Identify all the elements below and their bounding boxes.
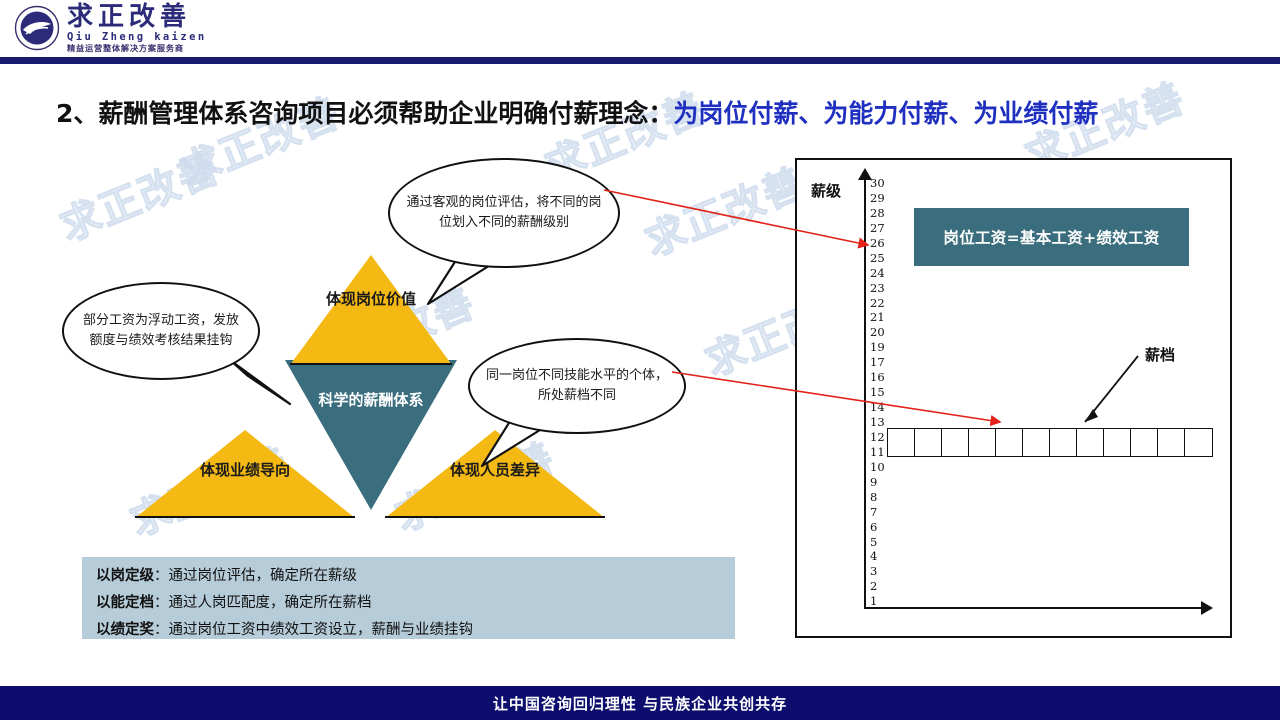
brand-tagline: 精益运营整体解决方案服务商 xyxy=(67,44,207,52)
y-axis-tick-label: 14 xyxy=(870,402,904,414)
triangle-performance-label: 体现业绩导向 xyxy=(135,462,355,480)
y-axis-tick-label: 8 xyxy=(870,492,904,504)
footer-text: 让中国咨询回归理性 与民族企业共创共存 xyxy=(493,693,787,714)
salary-band-cell xyxy=(1158,429,1185,456)
y-axis-tick-label: 2 xyxy=(870,581,904,593)
y-axis-tick-label: 19 xyxy=(870,342,904,354)
y-axis-tick-label: 6 xyxy=(870,522,904,534)
salary-band-cell xyxy=(1131,429,1158,456)
summary-row-label: 以能定档 xyxy=(96,595,154,611)
band-annotation-label: 薪档 xyxy=(1145,344,1175,365)
y-axis-tick-label: 29 xyxy=(870,193,904,205)
callout-variable-pay: 部分工资为浮动工资，发放额度与绩效考核结果挂钩 xyxy=(62,282,260,380)
salary-band-cell xyxy=(915,429,942,456)
slide-footer: 让中国咨询回归理性 与民族企业共创共存 xyxy=(0,686,1280,720)
y-axis-tick-label: 17 xyxy=(870,357,904,369)
summary-row-text: 通过岗位评估，确定所在薪级 xyxy=(169,568,358,584)
y-axis-tick-label: 7 xyxy=(870,507,904,519)
callout-job-evaluation: 通过客观的岗位评估，将不同的岗位划入不同的薪酬级别 xyxy=(388,158,620,268)
salary-band-cell xyxy=(1077,429,1104,456)
salary-band-cell xyxy=(888,429,915,456)
triangle-performance-base xyxy=(135,516,355,518)
y-axis-tick-label: 30 xyxy=(870,178,904,190)
callout-skill-band: 同一岗位不同技能水平的个体，所处薪档不同 xyxy=(468,338,686,434)
summary-row: 以岗定级：通过岗位评估，确定所在薪级 xyxy=(96,563,721,590)
y-axis-tick-label: 1 xyxy=(870,596,904,608)
y-axis-title: 薪级 xyxy=(811,180,841,201)
summary-box: 以岗定级：通过岗位评估，确定所在薪级 以能定档：通过人岗匹配度，确定所在薪档 以… xyxy=(82,557,735,639)
formula-banner: 岗位工资=基本工资+绩效工资 xyxy=(914,208,1189,266)
summary-row-sep: ： xyxy=(154,595,169,611)
triangle-people-diff-base xyxy=(385,516,605,518)
y-axis-tick-label: 25 xyxy=(870,253,904,265)
triangle-performance: 体现业绩导向 xyxy=(135,430,355,518)
salary-band-cell xyxy=(969,429,996,456)
title-prefix: 2、薪酬管理体系咨询项目必须帮助企业明确付薪理念： xyxy=(56,99,673,128)
y-axis-tick-label: 26 xyxy=(870,238,904,250)
title-highlight: 为岗位付薪、为能力付薪、为业绩付薪 xyxy=(673,99,1098,128)
brand-logo: 求正改善 Qiu Zheng kaizen 精益运营整体解决方案服务商 xyxy=(14,4,207,52)
summary-row-text: 通过人岗匹配度，确定所在薪档 xyxy=(169,595,372,611)
y-axis-tick-label: 10 xyxy=(870,462,904,474)
summary-row-sep: ： xyxy=(154,622,169,638)
salary-band-cell xyxy=(1050,429,1077,456)
summary-row-label: 以岗定级 xyxy=(96,568,154,584)
y-axis-tick-label: 4 xyxy=(870,551,904,563)
callout-variable-pay-text: 部分工资为浮动工资，发放额度与绩效考核结果挂钩 xyxy=(62,282,260,380)
circular-emblem-icon xyxy=(14,5,60,51)
y-axis-tick-label: 22 xyxy=(870,298,904,310)
salary-band-cell xyxy=(1185,429,1212,456)
summary-row-text: 通过岗位工资中绩效工资设立，薪酬与业绩挂钩 xyxy=(169,622,474,638)
brand-name-en: Qiu Zheng kaizen xyxy=(67,32,207,43)
brand-name-cn: 求正改善 xyxy=(67,4,207,30)
brand-wordmark: 求正改善 Qiu Zheng kaizen 精益运营整体解决方案服务商 xyxy=(67,4,207,53)
summary-row: 以能定档：通过人岗匹配度，确定所在薪档 xyxy=(96,590,721,617)
slide-canvas: 求正改善 求正改善 求正改善 求正改善 求正改善 求正改善 求正改善 求正改善 … xyxy=(0,0,1280,720)
y-axis-tick-label: 27 xyxy=(870,223,904,235)
y-axis-tick-label: 13 xyxy=(870,417,904,429)
salary-band-cell xyxy=(996,429,1023,456)
summary-row-sep: ： xyxy=(154,568,169,584)
x-axis-arrowhead-icon xyxy=(1201,601,1213,615)
salary-band-cell xyxy=(942,429,969,456)
x-axis-line xyxy=(864,607,1204,609)
salary-band-row xyxy=(887,428,1213,457)
y-axis-tick-label: 16 xyxy=(870,372,904,384)
callout-job-evaluation-text: 通过客观的岗位评估，将不同的岗位划入不同的薪酬级别 xyxy=(388,158,620,268)
salary-band-cell xyxy=(1104,429,1131,456)
summary-row: 以绩定奖：通过岗位工资中绩效工资设立，薪酬与业绩挂钩 xyxy=(96,617,721,644)
y-axis-tick-label: 3 xyxy=(870,566,904,578)
salary-band-cell xyxy=(1023,429,1050,456)
y-axis-tick-label: 23 xyxy=(870,283,904,295)
y-axis-tick-label: 21 xyxy=(870,312,904,324)
y-axis-ticks: 3029282726252423222120191716151413121110… xyxy=(870,178,904,608)
y-axis-tick-label: 28 xyxy=(870,208,904,220)
page-title: 2、薪酬管理体系咨询项目必须帮助企业明确付薪理念：为岗位付薪、为能力付薪、为业绩… xyxy=(56,97,1256,132)
callout-skill-band-text: 同一岗位不同技能水平的个体，所处薪档不同 xyxy=(468,338,686,434)
summary-row-label: 以绩定奖 xyxy=(96,622,154,638)
y-axis-line xyxy=(864,177,866,609)
salary-structure-chart: 薪级 3029282726252423222120191716151413121… xyxy=(795,158,1232,638)
y-axis-tick-label: 5 xyxy=(870,537,904,549)
slide-header: 求正改善 Qiu Zheng kaizen 精益运营整体解决方案服务商 xyxy=(0,0,1280,57)
y-axis-tick-label: 9 xyxy=(870,477,904,489)
header-divider xyxy=(0,57,1280,64)
y-axis-tick-label: 15 xyxy=(870,387,904,399)
y-axis-tick-label: 20 xyxy=(870,327,904,339)
y-axis-tick-label: 24 xyxy=(870,268,904,280)
